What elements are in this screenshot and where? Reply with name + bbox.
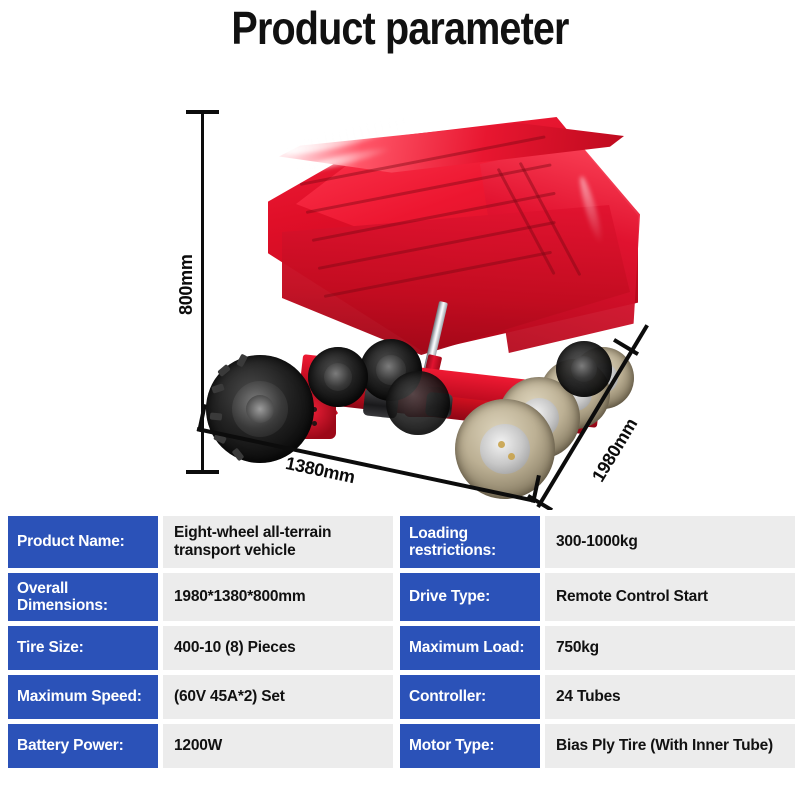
spec-value-product-name: Eight-wheel all-terrain transport vehicl…: [163, 516, 393, 568]
page-title: Product parameter: [56, 4, 744, 54]
dimension-tick-height-bottom: [186, 470, 219, 474]
spec-label-drive-type: Drive Type:: [400, 573, 540, 621]
table-row: Product Name: Eight-wheel all-terrain tr…: [0, 516, 800, 568]
spec-label-product-name: Product Name:: [8, 516, 158, 568]
tire-tread: [210, 412, 223, 420]
spec-value-drive-type: Remote Control Start: [545, 573, 795, 621]
spec-value-tire-size: 400-10 (8) Pieces: [163, 626, 393, 670]
wheel-rear-left-lower: [386, 371, 450, 435]
table-row: Battery Power: 1200W Motor Type: Bias Pl…: [0, 724, 800, 768]
spec-label-maximum-load: Maximum Load:: [400, 626, 540, 670]
wheel-rim: [324, 363, 352, 391]
spec-value-loading-restrictions: 300-1000kg: [545, 516, 795, 568]
dimension-tick-height-top: [186, 110, 219, 114]
table-row: Overall Dimensions: 1980*1380*800mm Driv…: [0, 573, 800, 621]
spec-value-maximum-speed: (60V 45A*2) Set: [163, 675, 393, 719]
spec-value-controller: 24 Tubes: [545, 675, 795, 719]
spec-value-battery-power: 1200W: [163, 724, 393, 768]
wheel-rim: [480, 424, 530, 474]
product-parameter-page: Product parameter: [0, 0, 800, 800]
spec-label-tire-size: Tire Size:: [8, 626, 158, 670]
wheel-rim: [571, 356, 597, 382]
spec-label-battery-power: Battery Power:: [8, 724, 158, 768]
spec-label-maximum-speed: Maximum Speed:: [8, 675, 158, 719]
specification-table: Product Name: Eight-wheel all-terrain tr…: [0, 516, 800, 800]
spec-value-maximum-load: 750kg: [545, 626, 795, 670]
spec-value-overall-dimensions: 1980*1380*800mm: [163, 573, 393, 621]
product-photo: 800mm 1380mm 1980mm: [0, 55, 800, 510]
table-row: Maximum Speed: (60V 45A*2) Set Controlle…: [0, 675, 800, 719]
spec-label-loading-restrictions: Loading restrictions:: [400, 516, 540, 568]
spec-label-motor-type: Motor Type:: [400, 724, 540, 768]
spec-label-controller: Controller:: [400, 675, 540, 719]
wheel-lug: [508, 453, 515, 460]
bolt: [312, 421, 317, 426]
table-row: Tire Size: 400-10 (8) Pieces Maximum Loa…: [0, 626, 800, 670]
spec-value-motor-type: Bias Ply Tire (With Inner Tube): [545, 724, 795, 768]
wheel-lug: [498, 441, 505, 448]
dimension-label-height: 800mm: [176, 254, 197, 315]
wheel-hub: [246, 395, 274, 423]
spec-label-overall-dimensions: Overall Dimensions:: [8, 573, 158, 621]
